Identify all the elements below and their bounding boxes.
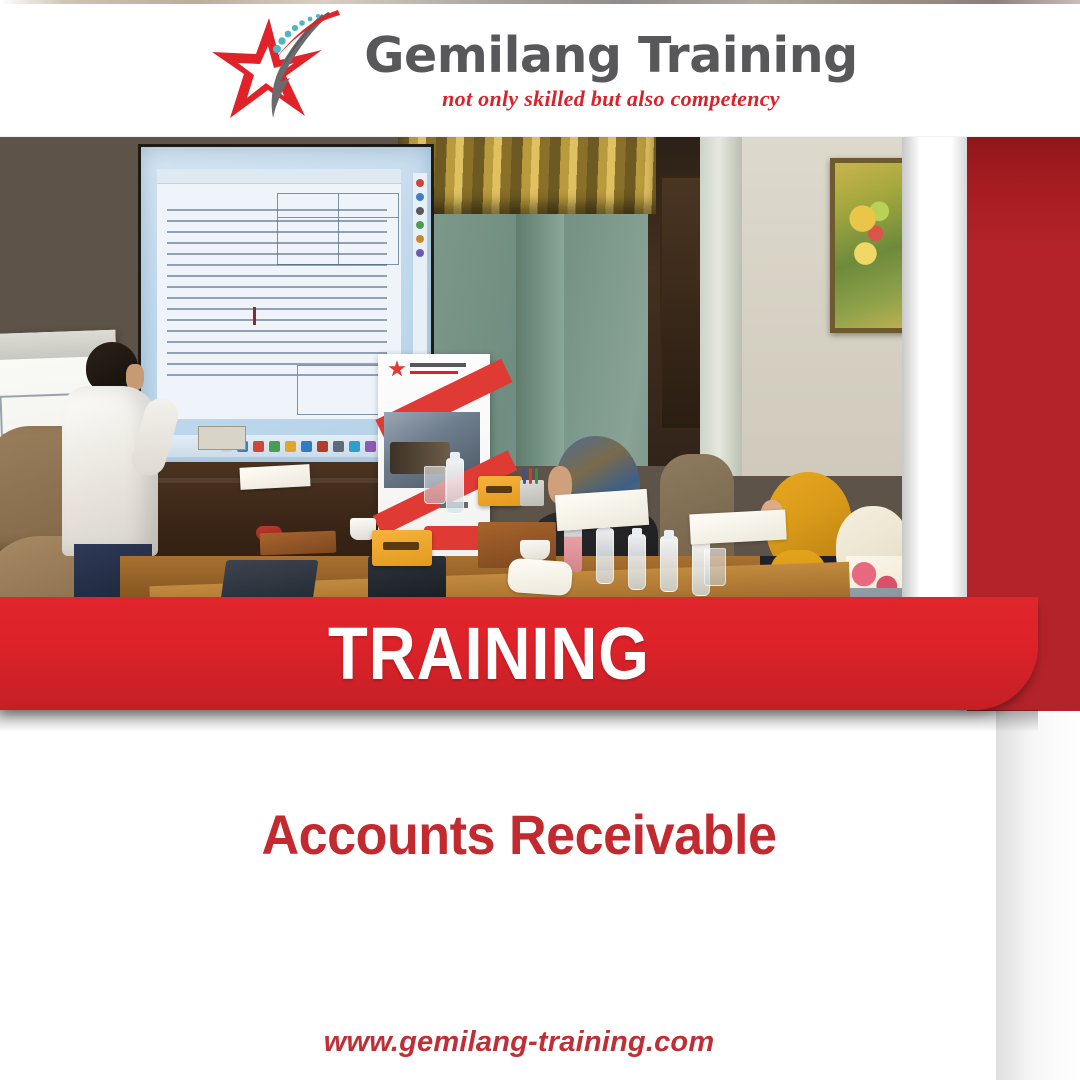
photo-laptop-1 xyxy=(218,560,319,600)
star-swoosh-logo xyxy=(210,6,358,134)
photo-pillar xyxy=(700,136,742,476)
header-bar: Gemilang Training not only skilled but a… xyxy=(0,4,1080,137)
brand-text-block: Gemilang Training not only skilled but a… xyxy=(364,31,857,110)
brand-logo[interactable]: Gemilang Training not only skilled but a… xyxy=(210,6,857,134)
photo-right-shadow xyxy=(902,136,920,600)
photo-wood-tray xyxy=(260,531,337,556)
photo-rollup-brand-line xyxy=(410,363,466,367)
photo-tissue-box-1 xyxy=(478,476,522,506)
training-band-shadow xyxy=(0,710,1038,732)
poster-canvas: Gemilang Training not only skilled but a… xyxy=(0,0,1080,1080)
photo-glass-2 xyxy=(704,548,726,586)
photo-screen-document xyxy=(157,169,401,419)
photo-rollup-badge xyxy=(424,526,486,550)
photo-screen-text-lines xyxy=(167,209,387,379)
photo-wall-outlet xyxy=(198,426,246,450)
photo-bottle-2 xyxy=(596,528,614,584)
photo-wall-painting xyxy=(830,158,902,333)
photo-papers-2 xyxy=(689,510,786,545)
photo-rollup-star-icon xyxy=(388,360,406,378)
training-banner: TRAINING xyxy=(0,597,1038,710)
photo-papers-1 xyxy=(239,464,310,490)
right-page-edge-shadow xyxy=(996,710,1080,1080)
photo-tissue-box-2 xyxy=(372,530,432,566)
photo-bottle-3 xyxy=(628,534,646,590)
brand-tagline: not only skilled but also competency xyxy=(364,88,857,110)
content-area: Accounts Receivable www.gemilang-trainin… xyxy=(0,710,1080,1080)
photo-bottle-4 xyxy=(660,536,678,592)
training-banner-label: TRAINING xyxy=(328,611,650,696)
website-url[interactable]: www.gemilang-training.com xyxy=(0,1026,1038,1059)
photo-notebook xyxy=(555,489,649,531)
photo-screen-cursor xyxy=(253,307,256,325)
photo-rolled-paper xyxy=(507,558,573,596)
photo-pen-cup xyxy=(520,480,544,506)
photo-glass-1 xyxy=(424,466,446,504)
photo-screen-toolbar xyxy=(157,169,401,184)
photo-curtain-valance xyxy=(398,136,656,214)
course-title: Accounts Receivable xyxy=(36,802,1001,867)
training-photo xyxy=(0,136,902,600)
brand-name: Gemilang Training xyxy=(364,31,857,80)
photo-rollup-tagline-line xyxy=(410,371,458,374)
photo-cup xyxy=(520,540,550,560)
photo-bottle-1 xyxy=(446,458,464,514)
